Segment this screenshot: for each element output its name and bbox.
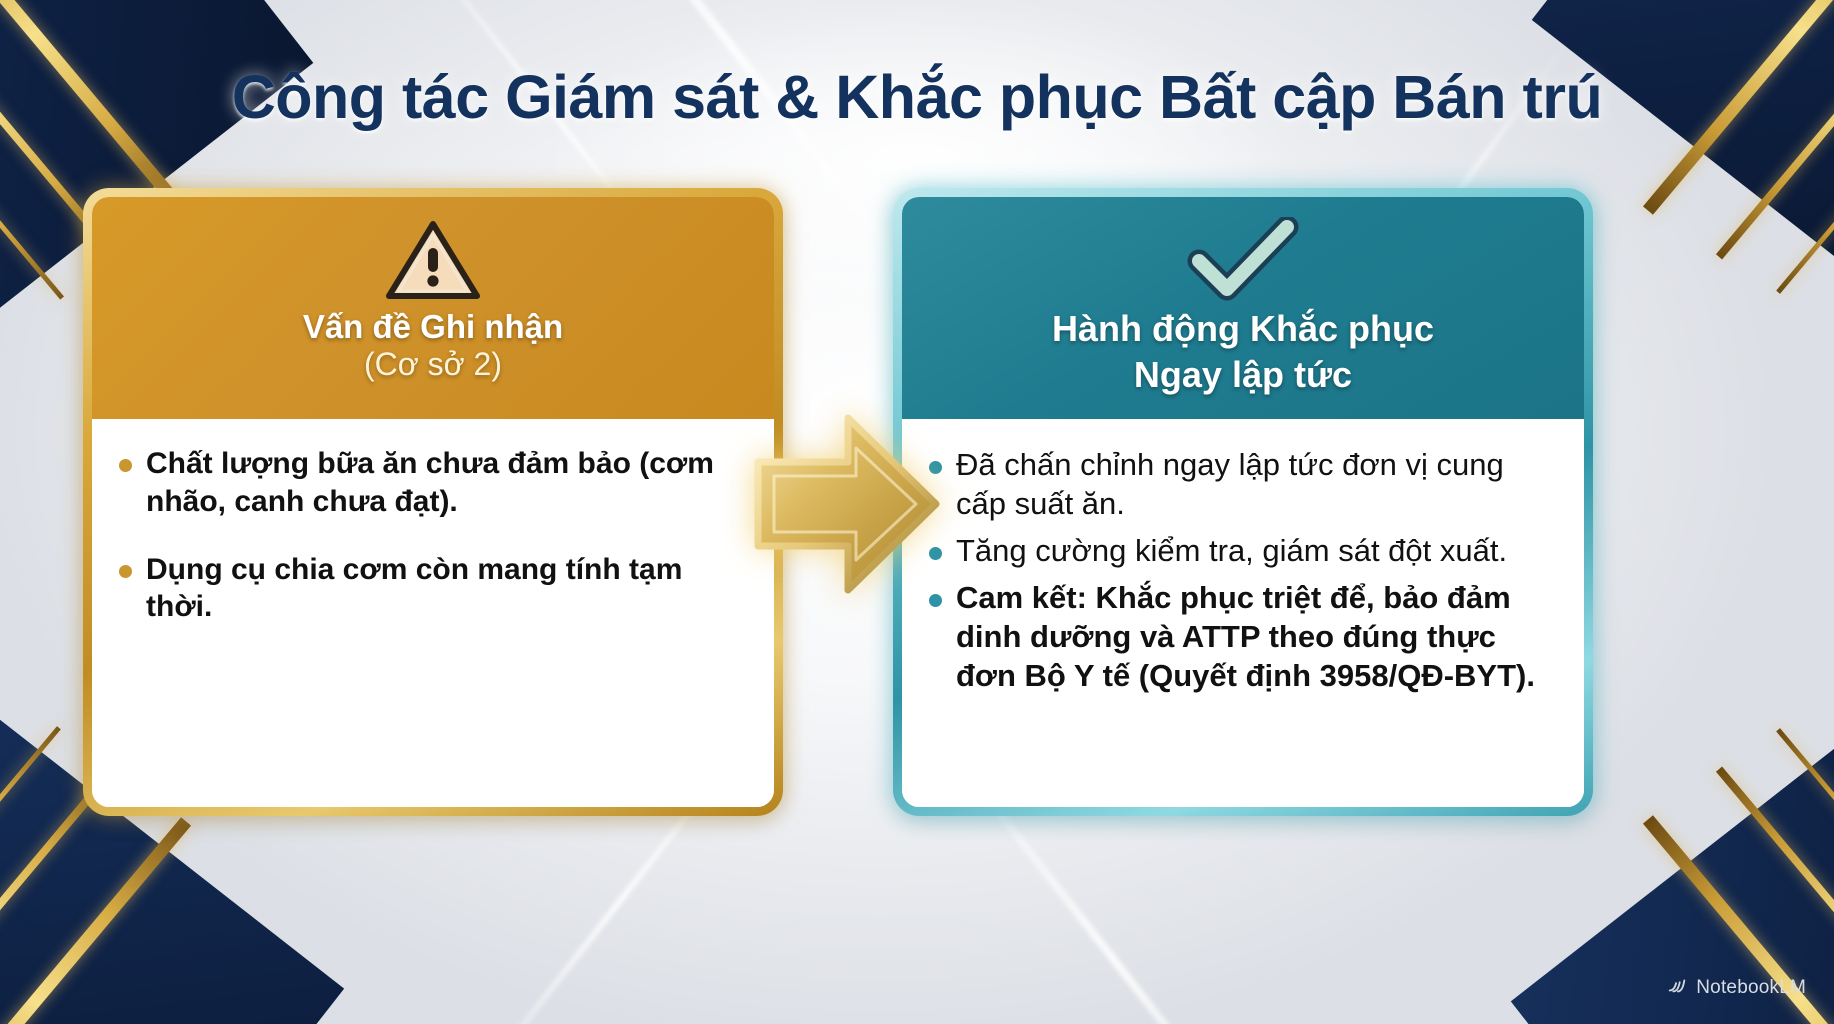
list-item: Đã chấn chỉnh ngay lập tức đơn vị cung c… [920,445,1558,523]
gold-streak [1776,7,1834,294]
list-item: Cam kết: Khắc phục triệt để, bảo đảm din… [920,578,1558,695]
gold-streak [0,817,191,1024]
problem-card-body: Chất lượng bữa ăn chưa đảm bảo (cơm nhão… [92,419,774,807]
problem-bullet-list: Chất lượng bữa ăn chưa đảm bảo (cơm nhão… [110,445,748,626]
problem-card-header: Vấn đề Ghi nhận (Cơ sở 2) [92,197,774,419]
list-item: Chất lượng bữa ăn chưa đảm bảo (cơm nhão… [110,445,748,521]
notebooklm-watermark: NotebookLM [1666,974,1806,1002]
gold-streak [0,5,64,299]
notebooklm-icon [1666,974,1688,1002]
warning-triangle-icon [385,217,481,303]
gold-streak [1776,728,1834,1015]
gold-streak [0,726,61,1013]
list-item: Dụng cụ chia cơm còn mang tính tạm thời. [110,551,748,627]
action-card-header: Hành động Khắc phục Ngay lập tức [902,197,1584,419]
right-arrow-icon [752,406,942,602]
action-bullet-list: Đã chấn chỉnh ngay lập tức đơn vị cung c… [920,445,1558,695]
action-card: Hành động Khắc phục Ngay lập tức Đã chấn… [893,188,1593,816]
checkmark-icon [1187,217,1299,303]
notebooklm-label: NotebookLM [1696,977,1806,999]
problem-card: Vấn đề Ghi nhận (Cơ sở 2) Chất lượng bữa… [83,188,783,816]
slide-canvas: Công tác Giám sát & Khắc phục Bất cập Bá… [0,0,1834,1024]
page-title: Công tác Giám sát & Khắc phục Bất cập Bá… [0,62,1834,132]
action-card-body: Đã chấn chỉnh ngay lập tức đơn vị cung c… [902,419,1584,807]
list-item: Tăng cường kiểm tra, giám sát đột xuất. [920,531,1558,570]
problem-card-subtitle: (Cơ sở 2) [364,346,502,383]
action-card-title-line1: Hành động Khắc phục [1052,309,1434,349]
problem-card-title: Vấn đề Ghi nhận [303,309,563,346]
action-card-title-line2: Ngay lập tức [1134,355,1352,395]
